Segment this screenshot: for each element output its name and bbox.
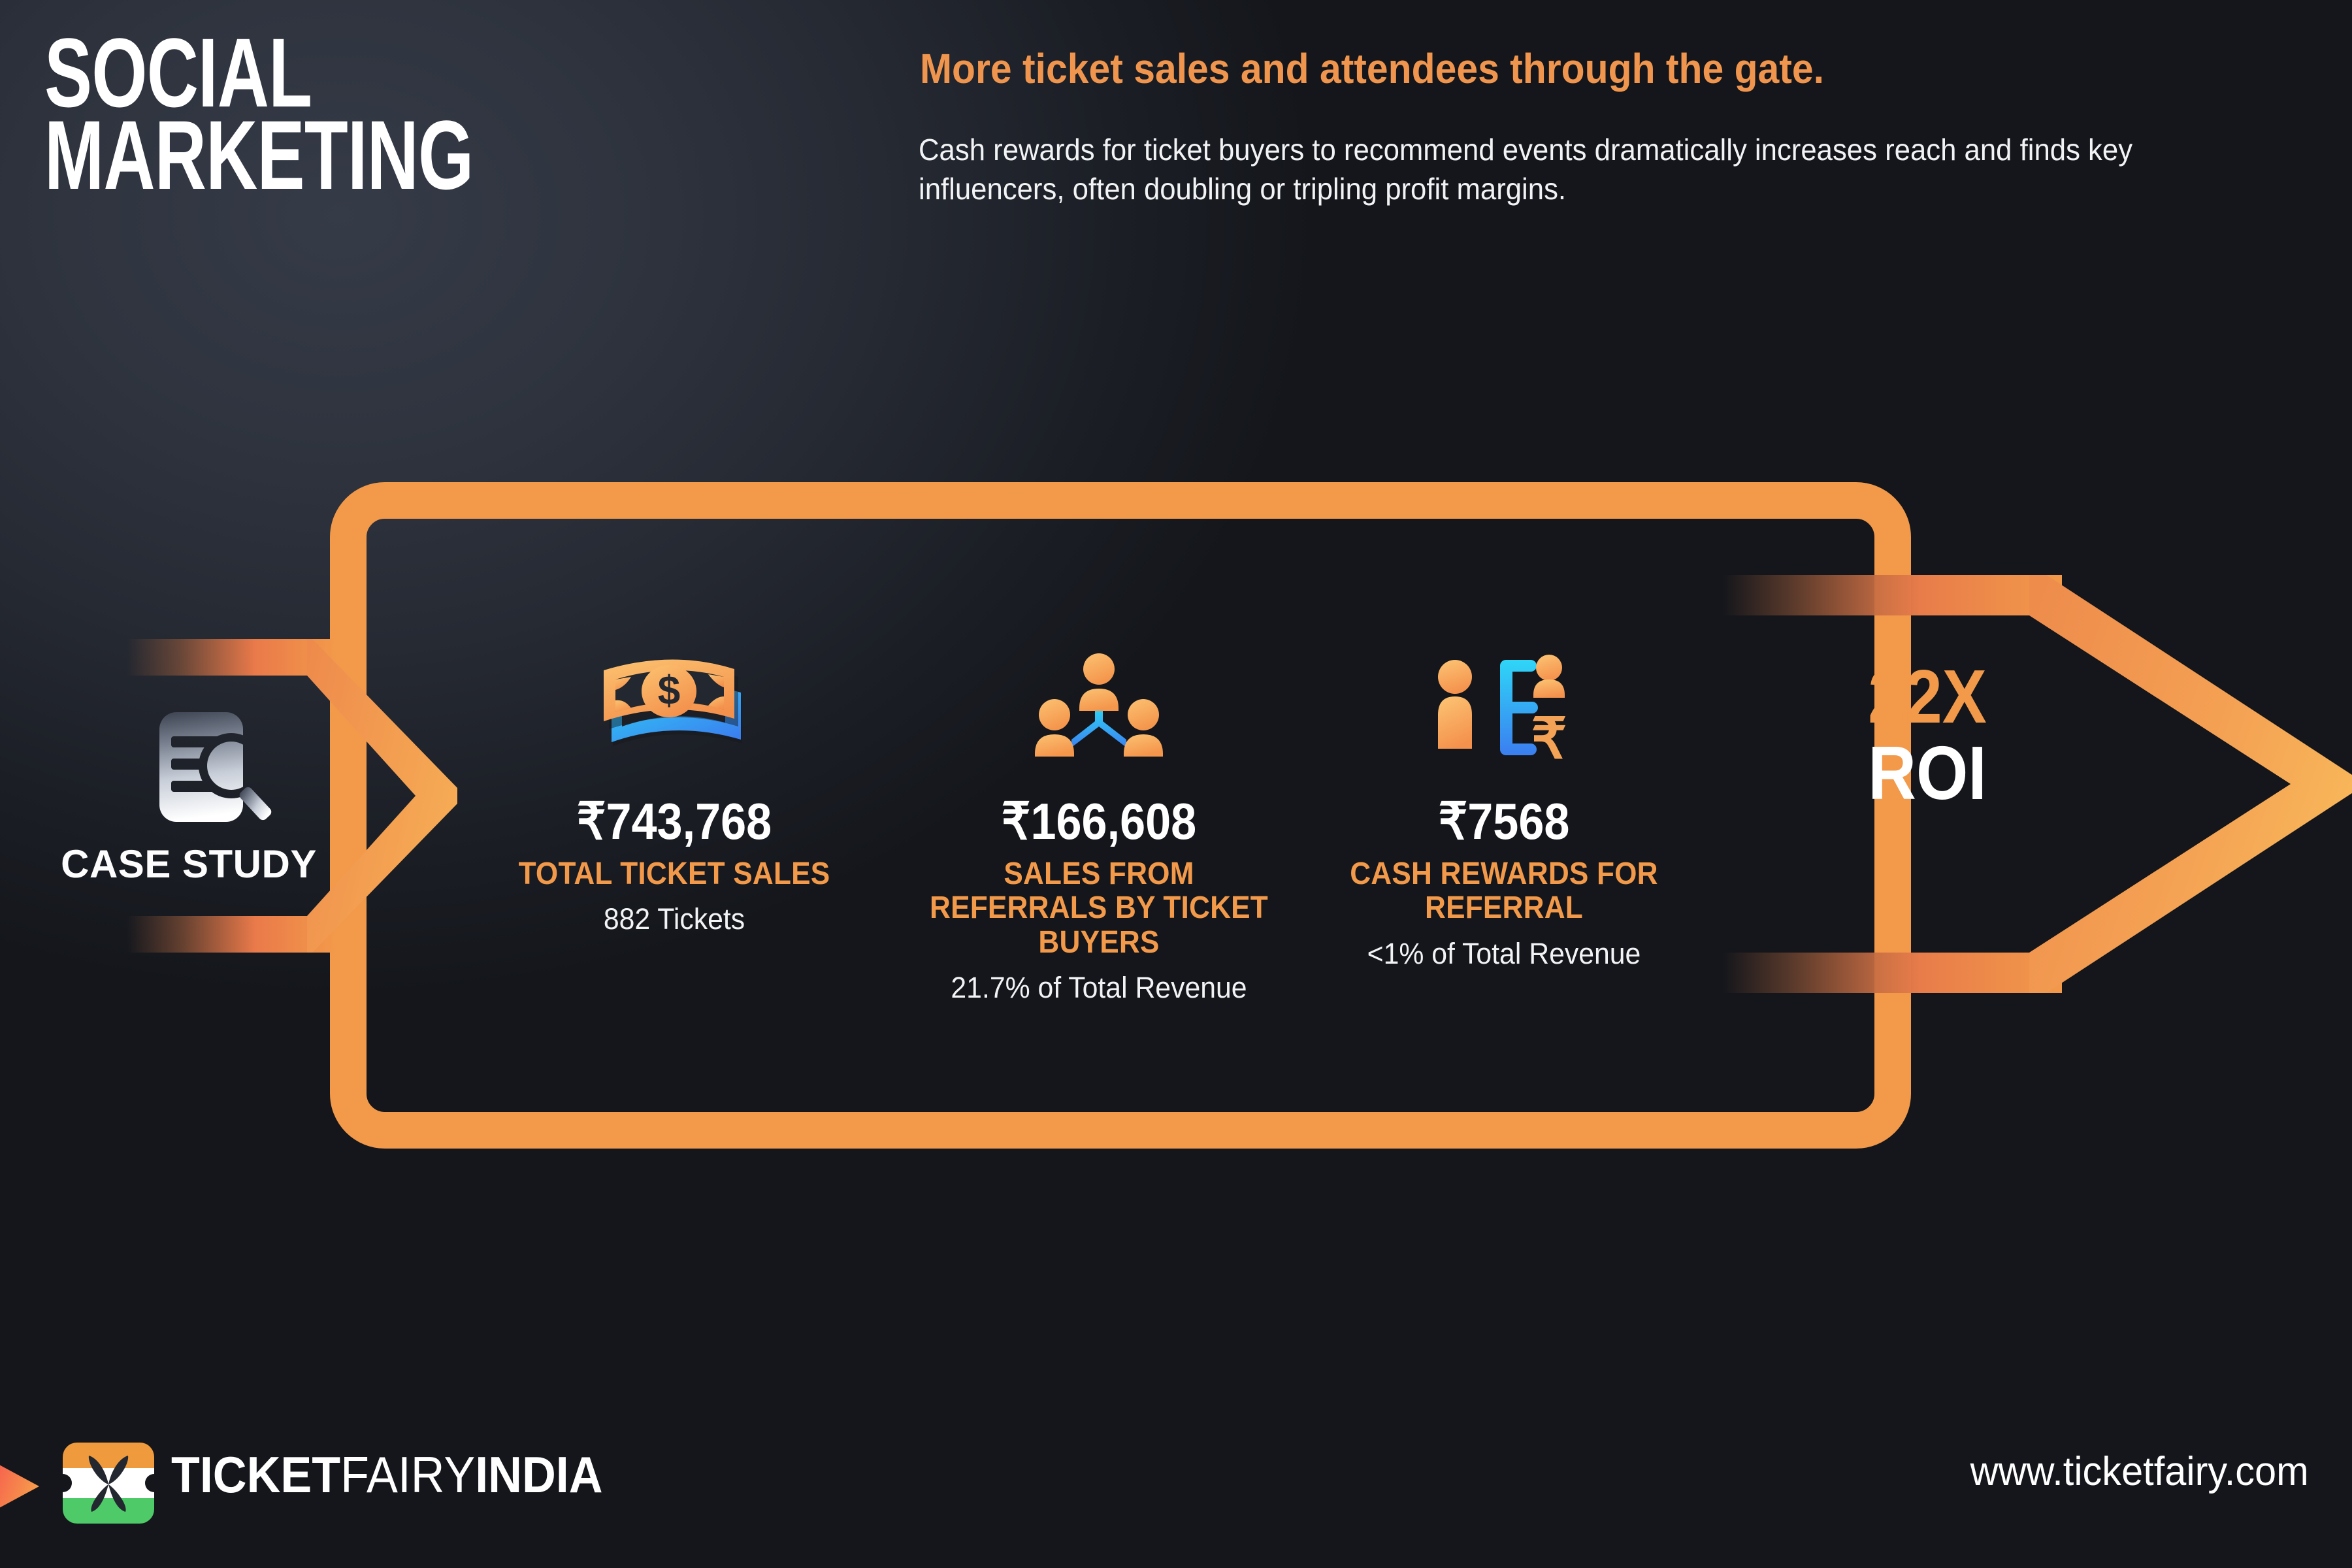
website-url[interactable]: www.ticketfairy.com — [1970, 1452, 2309, 1492]
stat-value: ₹7568 — [1322, 796, 1686, 847]
stat-value: ₹743,768 — [504, 796, 845, 847]
brand-india: INDIA — [475, 1446, 602, 1503]
banknotes-icon: $ — [485, 653, 864, 777]
stat-label: SALES FROM REFERRALS BY TICKET BUYERS — [913, 857, 1285, 960]
roi-text-block: 22X ROI — [1764, 659, 2091, 811]
chevron-body — [307, 639, 457, 953]
headline: More ticket sales and attendees through … — [920, 48, 2194, 90]
infographic-canvas: SOCIAL MARKETING More ticket sales and a… — [0, 0, 2352, 1568]
stat-card-total-ticket-sales: $ ₹743,768 TOTAL TICKET SALES 882 Ticket… — [485, 653, 864, 936]
subheadline: Cash rewards for ticket buyers to recomm… — [919, 131, 2266, 209]
roi-arrow-tail-bottom — [1722, 953, 2062, 993]
page-title: SOCIAL MARKETING — [44, 31, 473, 196]
stat-card-sales-from-referrals: ₹166,608 SALES FROM REFERRALS BY TICKET … — [896, 653, 1301, 1004]
chevron-tail-top — [127, 639, 335, 676]
roi-multiplier: 22X — [1784, 659, 2071, 734]
roi-label: ROI — [1784, 734, 2071, 811]
brand-fairy: FAIRY — [340, 1446, 475, 1503]
document-search-icon — [153, 700, 281, 828]
chevron-tail-bottom — [127, 916, 335, 953]
stat-label: TOTAL TICKET SALES — [500, 857, 849, 891]
page-title-line-2: MARKETING — [44, 100, 473, 210]
stat-note: 882 Tickets — [495, 903, 855, 936]
roi-arrow-tail-top — [1722, 575, 2062, 615]
play-arrow-icon — [0, 1447, 46, 1526]
stat-value: ₹166,608 — [917, 796, 1281, 847]
brand-wordmark: TICKETFAIRYINDIA — [171, 1449, 603, 1500]
stat-note: 21.7% of Total Revenue — [907, 972, 1292, 1004]
svg-text:₹: ₹ — [1531, 708, 1567, 770]
person-reward-rupee-icon: ₹ — [1301, 653, 1707, 777]
brand-ticket: TICKET — [171, 1446, 340, 1503]
ticket-butterfly-india-flag-icon — [63, 1437, 154, 1529]
stat-note: <1% of Total Revenue — [1312, 938, 1697, 970]
stat-label: CASH REWARDS FOR REFERRAL — [1318, 857, 1690, 926]
stat-card-cash-rewards: ₹ ₹7568 CASH REWARDS FOR REFERRAL <1% of… — [1301, 653, 1707, 970]
referral-network-icon — [896, 653, 1301, 777]
svg-text:$: $ — [658, 668, 680, 713]
case-study-label: CASE STUDY — [0, 841, 378, 887]
